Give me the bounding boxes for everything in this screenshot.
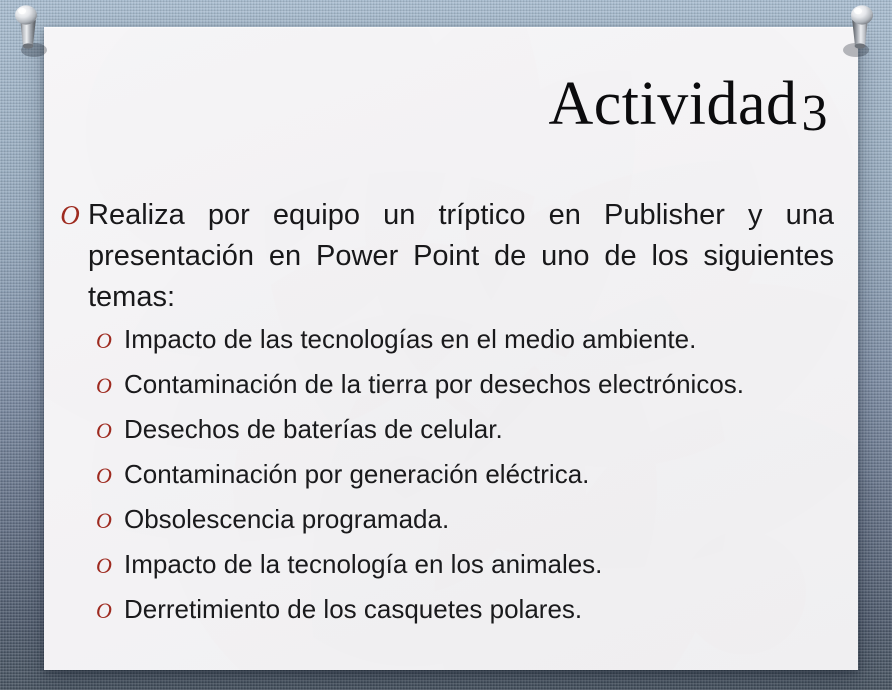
bullet-o-icon: O: [96, 508, 124, 534]
sub-bullet-text: Desechos de baterías de celular.: [124, 414, 844, 445]
sub-bullet-text: Impacto de las tecnologías en el medio a…: [124, 324, 844, 355]
sub-bullet-text: Obsolescencia programada.: [124, 504, 844, 535]
bullet-o-icon: O: [96, 328, 124, 354]
sub-bullet-item: O Derretimiento de los casquetes polares…: [96, 594, 844, 639]
slide-title-number: 3: [798, 85, 829, 142]
paper-card: Actividad3 O Realiza por equipo un trípt…: [44, 27, 858, 670]
sub-bullet-text: Impacto de la tecnología en los animales…: [124, 549, 844, 580]
sub-bullet-text: Contaminación por generación eléctrica.: [124, 459, 844, 490]
slide-title: Actividad3: [44, 71, 828, 138]
sub-bullet-item: O Obsolescencia programada.: [96, 504, 844, 549]
slide-body: O Realiza por equipo un tríptico en Publ…: [52, 195, 844, 639]
sub-bullet-list: O Impacto de las tecnologías en el medio…: [52, 324, 844, 639]
slide-title-text: Actividad: [549, 70, 798, 138]
sub-bullet-text: Derretimiento de los casquetes polares.: [124, 594, 844, 625]
sub-bullet-item: O Impacto de la tecnología en los animal…: [96, 549, 844, 594]
sub-bullet-item: O Impacto de las tecnologías en el medio…: [96, 324, 844, 369]
bullet-o-icon: O: [96, 553, 124, 579]
main-bullet-text: Realiza por equipo un tríptico en Publis…: [88, 195, 844, 318]
bullet-o-icon: O: [96, 598, 124, 624]
sub-bullet-item: O Desechos de baterías de celular.: [96, 414, 844, 459]
bullet-o-icon: O: [96, 463, 124, 489]
sub-bullet-text: Contaminación de la tierra por desechos …: [124, 369, 844, 400]
bullet-o-icon: O: [52, 195, 88, 236]
sub-bullet-item: O Contaminación de la tierra por desecho…: [96, 369, 844, 414]
bullet-o-icon: O: [96, 373, 124, 399]
sub-bullet-item: O Contaminación por generación eléctrica…: [96, 459, 844, 504]
main-bullet-item: O Realiza por equipo un tríptico en Publ…: [52, 195, 844, 318]
presentation-slide: Actividad3 O Realiza por equipo un trípt…: [0, 0, 892, 690]
bullet-o-icon: O: [96, 418, 124, 444]
